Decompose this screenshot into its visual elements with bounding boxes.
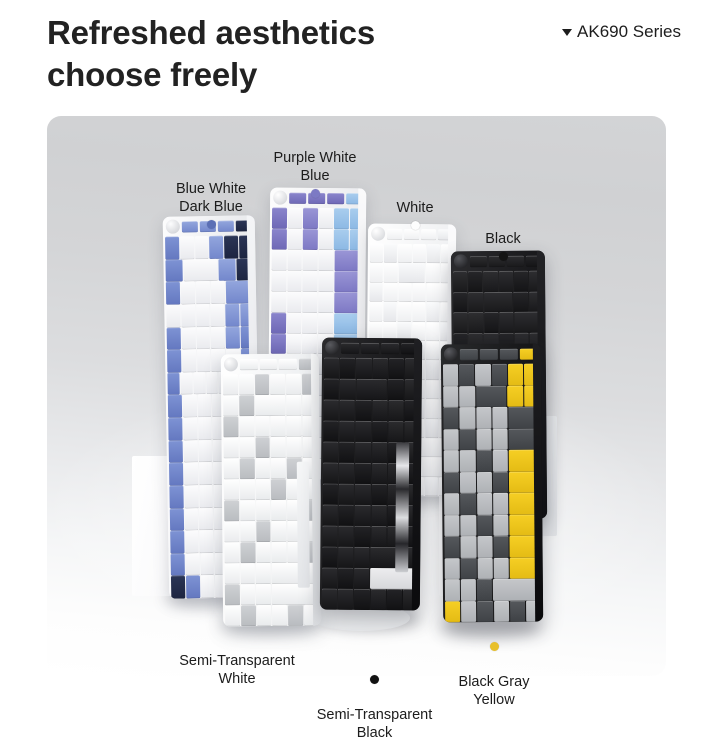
colorway-dot (499, 252, 508, 261)
volume-knob-icon[interactable] (224, 357, 238, 371)
key-row (221, 395, 319, 417)
series-label: AK690 Series (577, 22, 681, 42)
colorway-label-black[interactable]: Black (472, 212, 534, 279)
key-row (223, 605, 321, 627)
colorway-label-text: Purple White Blue (273, 150, 356, 184)
key-row (443, 600, 543, 622)
key-row (221, 416, 319, 438)
key-row (451, 312, 545, 333)
colorway-dot (207, 220, 216, 229)
page-title: Refreshed aesthetics choose freely (47, 12, 477, 96)
key-row (442, 450, 542, 472)
key-row (442, 471, 542, 493)
colorway-dot (411, 221, 420, 230)
volume-knob-icon[interactable] (454, 254, 468, 268)
key-row (441, 385, 541, 407)
decorative-spacebar (297, 462, 310, 588)
key-row (321, 421, 421, 443)
colorway-label-blue-white-dark-blue[interactable]: Blue White Dark Blue (165, 162, 257, 248)
colorway-dot (370, 675, 379, 684)
kb-black-gray-yellow[interactable] (441, 344, 543, 623)
kb-semi-transparent-black[interactable] (320, 338, 422, 611)
volume-knob-icon[interactable] (444, 347, 458, 361)
volume-knob-icon[interactable] (325, 341, 339, 355)
colorway-label-black-gray-yellow[interactable]: Black Gray Yellow (444, 624, 544, 710)
key-row (442, 493, 542, 515)
colorway-label-text: Semi-Transparent Black (317, 707, 433, 741)
colorway-label-text: Black Gray Yellow (459, 674, 530, 708)
page-header: Refreshed aesthetics choose freely AK690… (0, 0, 713, 112)
key-row (367, 302, 455, 322)
key-row (442, 536, 542, 558)
key-row (269, 291, 365, 313)
key-row (441, 407, 541, 429)
colorway-label-purple-white-blue[interactable]: Purple White Blue (258, 131, 372, 217)
key-row (321, 400, 421, 422)
key-row (322, 358, 422, 380)
colorway-label-text: Black (485, 231, 520, 247)
colorway-label-white[interactable]: White (382, 181, 448, 248)
series-tag[interactable]: AK690 Series (562, 22, 681, 42)
key-row (451, 291, 545, 312)
colorway-label-text: White (396, 200, 433, 216)
key-row (441, 364, 541, 386)
key-row (368, 282, 456, 302)
key-row (221, 374, 319, 396)
key-row (164, 303, 256, 327)
key-row (442, 514, 542, 536)
key-row (269, 270, 365, 292)
key-row (222, 437, 320, 459)
kb-semi-transparent-white[interactable] (221, 354, 321, 627)
key-row (163, 258, 255, 282)
key-row (269, 312, 365, 334)
kb-side-bezel (412, 338, 422, 610)
key-row (442, 428, 542, 450)
colorway-label-semi-transparent-white[interactable]: Semi-Transparent White (163, 634, 311, 688)
key-row (443, 579, 543, 601)
decorative-spacebar (395, 442, 409, 572)
key-row (322, 379, 422, 401)
colorway-label-text: Semi-Transparent White (179, 653, 295, 687)
colorway-dot (490, 642, 499, 651)
colorway-dot (311, 189, 320, 198)
caret-down-icon (562, 29, 572, 36)
key-row (368, 263, 456, 283)
key-row (270, 229, 366, 251)
key-row (165, 326, 257, 350)
key-row (164, 280, 256, 304)
colorway-label-semi-transparent-black[interactable]: Semi-Transparent Black (299, 657, 450, 743)
key-row (443, 557, 543, 579)
key-row (270, 249, 366, 271)
key-row (320, 589, 420, 611)
colorway-label-text: Blue White Dark Blue (176, 181, 246, 215)
